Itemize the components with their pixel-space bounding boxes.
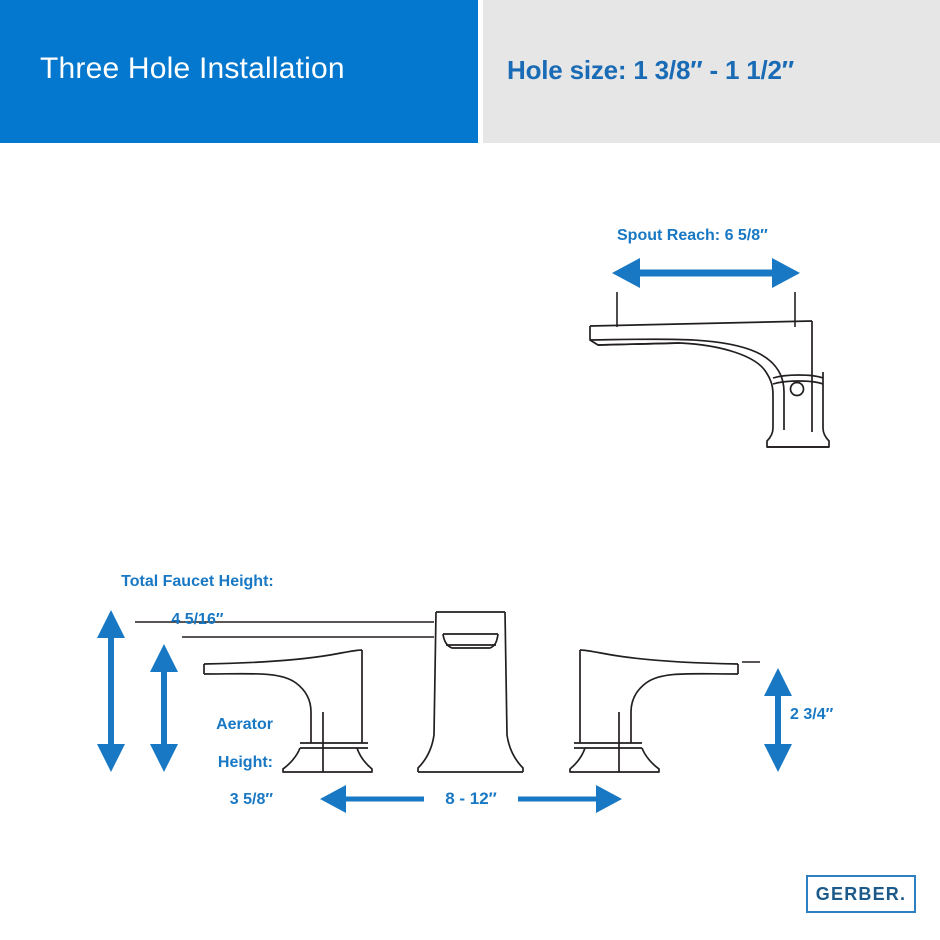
hole-size-title: Hole size: 1 3/8″ - 1 1/2″: [507, 55, 794, 86]
spout-reach-arrow: [612, 258, 800, 288]
gerber-logo: GERBER.: [806, 875, 916, 913]
gerber-logo-text: GERBER.: [816, 884, 906, 905]
aerator-height-value: 3 5/8″: [230, 791, 273, 808]
total-faucet-height-label: Total Faucet Height: 4 5/16″: [91, 554, 295, 630]
header-band: Three Hole Installation Hole size: 1 3/8…: [0, 0, 940, 143]
center-spout-outline: [418, 612, 523, 772]
spread-dimension-label: 8 - 12″: [424, 789, 518, 809]
spout-side-view-group: [590, 258, 829, 447]
spout-reach-label: Spout Reach: 6 5/8″: [617, 227, 768, 246]
installation-type-title: Three Hole Installation: [40, 52, 345, 86]
total-faucet-height-arrow: [97, 610, 125, 772]
aerator-height-label: Aerator Height: 3 5/8″: [178, 697, 273, 810]
right-handle-outline: [570, 650, 738, 772]
total-faucet-height-label-line1: Total Faucet Height:: [121, 573, 274, 590]
handle-height-arrow: [764, 668, 792, 772]
spout-outline: [590, 321, 829, 447]
aerator-height-label-line1: Aerator: [216, 716, 273, 733]
aerator-height-arrow: [150, 644, 178, 772]
aerator-height-label-line2: Height:: [218, 754, 273, 771]
total-faucet-height-value: 4 5/16″: [171, 611, 223, 628]
handle-height-label: 2 3/4″: [790, 706, 833, 725]
